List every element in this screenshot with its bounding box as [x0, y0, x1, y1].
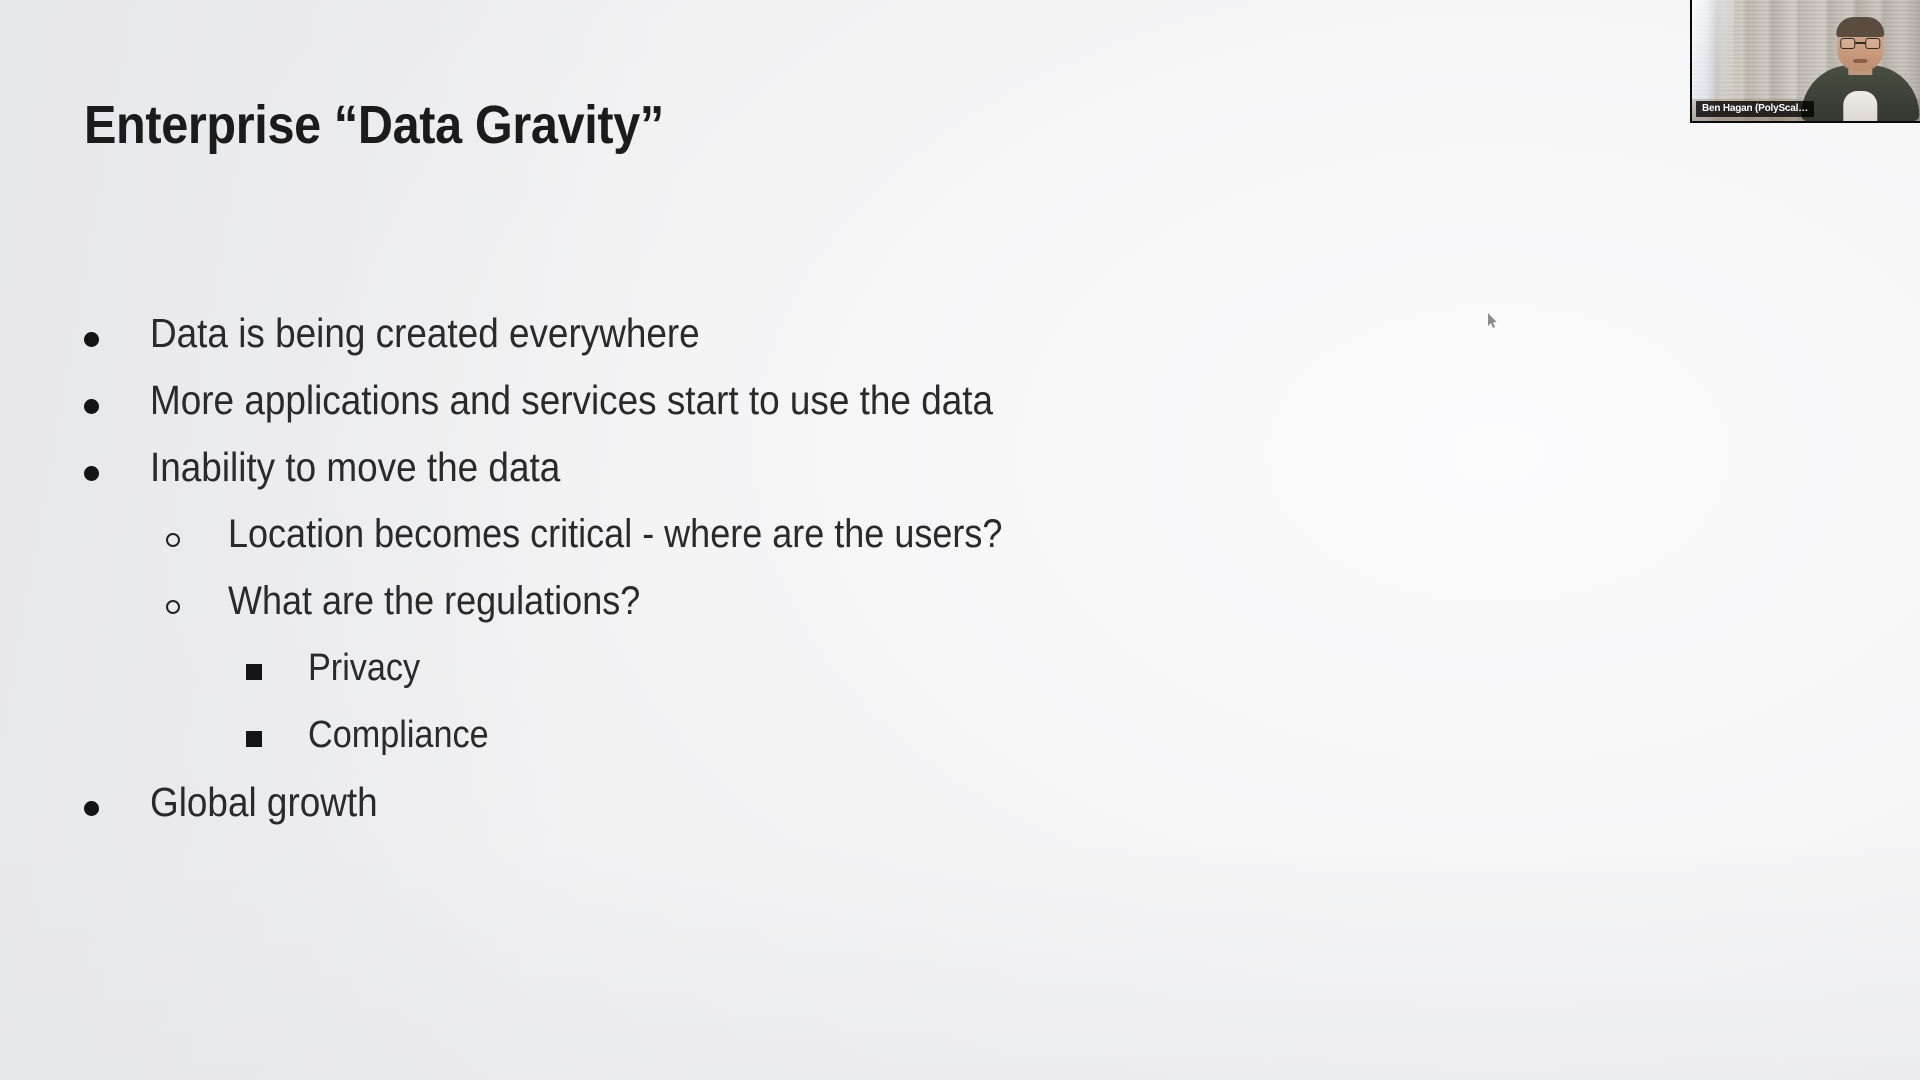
bullet-item-level1: Global growth — [84, 769, 1584, 836]
bullet-text: Location becomes critical - where are th… — [228, 501, 1002, 568]
bullet-text: Global growth — [150, 769, 378, 836]
glasses-icon — [1840, 38, 1880, 49]
filled-square-bullet-icon — [246, 664, 308, 680]
mouth — [1853, 59, 1867, 63]
screen-share-stage: Enterprise “Data Gravity” Data is being … — [0, 0, 1920, 1080]
shirt — [1843, 91, 1877, 121]
participant-name-label: Ben Hagan (PolyScal… — [1696, 101, 1814, 117]
bullet-item-level2: Location becomes critical - where are th… — [84, 501, 1584, 568]
participant-video-tile[interactable]: Ben Hagan (PolyScal… — [1690, 0, 1920, 123]
bullet-text: More applications and services start to … — [150, 367, 993, 434]
presentation-slide: Enterprise “Data Gravity” Data is being … — [0, 0, 1920, 1080]
hair — [1836, 17, 1884, 37]
hollow-circle-bullet-icon — [166, 533, 228, 547]
bullet-text: Compliance — [308, 702, 489, 769]
filled-circle-bullet-icon — [84, 399, 150, 414]
slide-content: Enterprise “Data Gravity” Data is being … — [0, 0, 1920, 1080]
filled-circle-bullet-icon — [84, 466, 150, 481]
bullet-text: What are the regulations? — [228, 568, 640, 635]
bullet-text: Privacy — [308, 635, 420, 702]
filled-circle-bullet-icon — [84, 801, 150, 816]
filled-circle-bullet-icon — [84, 332, 150, 347]
bullet-item-level2: What are the regulations? — [84, 568, 1584, 635]
slide-title: Enterprise “Data Gravity” — [84, 96, 664, 154]
bullet-item-level3: Privacy — [84, 635, 1584, 702]
bullet-item-level3: Compliance — [84, 702, 1584, 769]
bullet-text: Inability to move the data — [150, 434, 560, 501]
bullet-text: Data is being created everywhere — [150, 300, 700, 367]
hollow-circle-bullet-icon — [166, 600, 228, 614]
bullet-list: Data is being created everywhere More ap… — [84, 300, 1584, 836]
bullet-item-level1: More applications and services start to … — [84, 367, 1584, 434]
bullet-item-level1: Data is being created everywhere — [84, 300, 1584, 367]
bullet-item-level1: Inability to move the data — [84, 434, 1584, 501]
filled-square-bullet-icon — [246, 731, 308, 747]
participant-avatar — [1801, 33, 1919, 121]
